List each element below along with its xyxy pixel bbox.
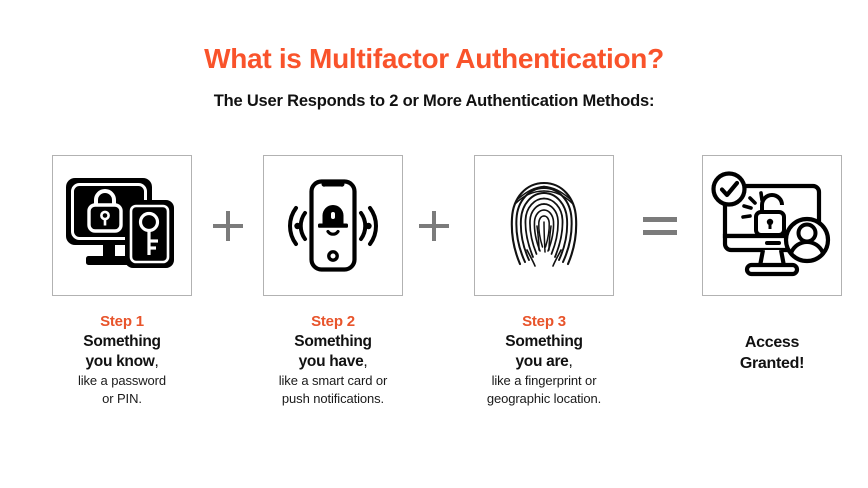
step-1-strong-text: you know (85, 353, 154, 370)
step-1-comma: , (155, 353, 159, 370)
fingerprint-icon (475, 156, 613, 295)
step-3-strong-text: you are (515, 353, 568, 370)
step-3-comma: , (569, 353, 573, 370)
caption-step-3: Step 3 Something you are, like a fingerp… (464, 312, 624, 408)
step-2-detail-line-1: like a smart card or (253, 372, 413, 390)
step-1-label: Step 1 (42, 312, 202, 332)
step-1-detail-line-2: or PIN. (42, 390, 202, 408)
factor-card-step-3 (474, 155, 614, 296)
result-card-access-granted (702, 155, 842, 296)
page-title: What is Multifactor Authentication? (0, 42, 868, 76)
equals-icon (643, 217, 677, 235)
captions-row: Step 1 Something you know, like a passwo… (0, 312, 868, 422)
operator-plus-1 (198, 155, 258, 296)
operator-equals (630, 155, 690, 296)
caption-step-1: Step 1 Something you know, like a passwo… (42, 312, 202, 408)
step-3-strong-line-2: you are, (464, 352, 624, 372)
factor-card-step-2 (263, 155, 403, 296)
factor-cards-row (0, 155, 868, 297)
plus-icon (213, 211, 243, 241)
caption-result: Access Granted! (692, 332, 852, 374)
step-2-strong-line-2: you have, (253, 352, 413, 372)
step-2-comma: , (363, 353, 367, 370)
step-1-strong-line-1: Something (42, 332, 202, 352)
monitor-lock-key-card-icon (53, 156, 191, 295)
step-1-strong-line-2: you know, (42, 352, 202, 372)
step-3-strong-line-1: Something (464, 332, 624, 352)
caption-step-2: Step 2 Something you have, like a smart … (253, 312, 413, 408)
step-2-strong-line-1: Something (253, 332, 413, 352)
monitor-unlocked-user-verified-icon (703, 156, 841, 295)
step-3-label: Step 3 (464, 312, 624, 332)
result-line-1: Access (692, 332, 852, 353)
smartphone-push-notification-icon (264, 156, 402, 295)
infographic-canvas: What is Multifactor Authentication? The … (0, 0, 868, 488)
page-subtitle: The User Responds to 2 or More Authentic… (0, 90, 868, 112)
factor-card-step-1 (52, 155, 192, 296)
result-line-2: Granted! (692, 353, 852, 374)
step-2-label: Step 2 (253, 312, 413, 332)
step-3-detail-line-1: like a fingerprint or (464, 372, 624, 390)
step-1-detail-line-1: like a password (42, 372, 202, 390)
operator-plus-2 (404, 155, 464, 296)
step-3-detail-line-2: geographic location. (464, 390, 624, 408)
step-2-strong-text: you have (299, 353, 364, 370)
step-2-detail-line-2: push notifications. (253, 390, 413, 408)
plus-icon (419, 211, 449, 241)
